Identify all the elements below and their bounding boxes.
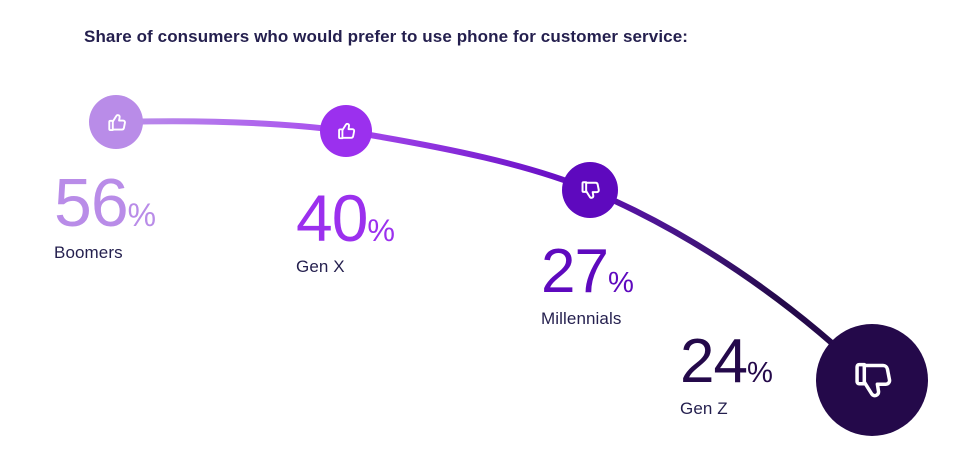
stat-number-boomers: 56 [54, 165, 128, 241]
stat-block-millennials: 27% Millennials [541, 243, 634, 329]
stat-value-boomers: 56% [54, 171, 156, 236]
stat-number-millennials: 27 [541, 237, 608, 306]
stat-number-gen-x: 40 [296, 181, 367, 255]
stat-value-millennials: 27% [541, 243, 634, 302]
data-point-boomers[interactable] [89, 95, 143, 149]
stat-label-boomers: Boomers [54, 243, 156, 263]
infographic-container: Share of consumers who would prefer to u… [0, 0, 980, 462]
thumbs-down-icon [844, 352, 900, 408]
page-title: Share of consumers who would prefer to u… [84, 27, 688, 47]
stat-block-gen-x: 40% Gen X [296, 187, 395, 277]
data-point-gen-z[interactable] [816, 324, 928, 436]
data-point-millennials[interactable] [562, 162, 618, 218]
stat-block-gen-z: 24% Gen Z [680, 333, 773, 419]
percent-symbol-gen-z: % [747, 357, 773, 389]
percent-symbol-gen-x: % [367, 213, 395, 248]
stat-label-millennials: Millennials [541, 309, 634, 329]
thumbs-down-icon [576, 176, 604, 204]
data-point-gen-x[interactable] [320, 105, 372, 157]
stat-block-boomers: 56% Boomers [54, 171, 156, 263]
stat-label-gen-x: Gen X [296, 257, 395, 277]
percent-symbol-boomers: % [128, 197, 156, 233]
stat-number-gen-z: 24 [680, 327, 747, 396]
thumbs-up-icon [333, 118, 359, 144]
stat-label-gen-z: Gen Z [680, 399, 773, 419]
percent-symbol-millennials: % [608, 267, 634, 299]
stat-value-gen-x: 40% [296, 187, 395, 250]
thumbs-up-icon [103, 109, 130, 136]
stat-value-gen-z: 24% [680, 333, 773, 392]
